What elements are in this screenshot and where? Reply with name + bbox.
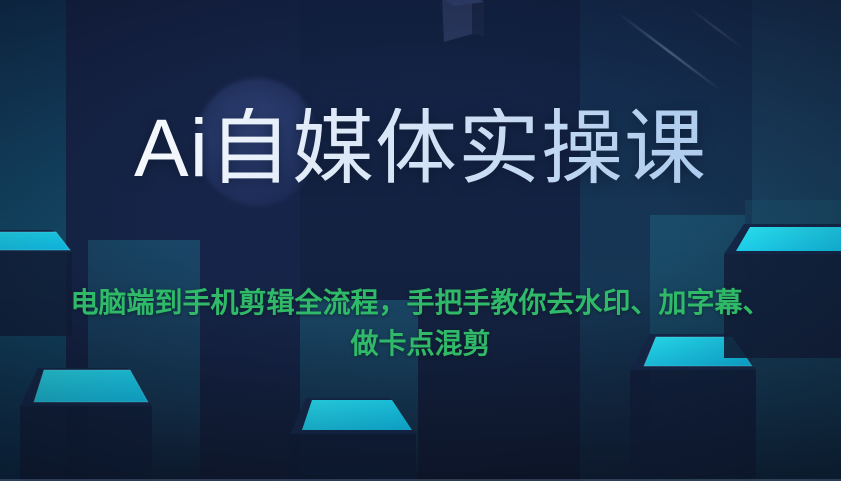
course-poster: Ai自媒体实操课 电脑端到手机剪辑全流程，手把手教你去水印、加字幕、做卡点混剪 (0, 0, 841, 481)
page-title: Ai自媒体实操课 (0, 108, 841, 190)
block-bottom-left (20, 360, 200, 481)
block-center (290, 392, 470, 481)
page-subtitle: 电脑端到手机剪辑全流程，手把手教你去水印、加字幕、做卡点混剪 (65, 282, 777, 365)
3d-cube-icon (414, 0, 514, 60)
